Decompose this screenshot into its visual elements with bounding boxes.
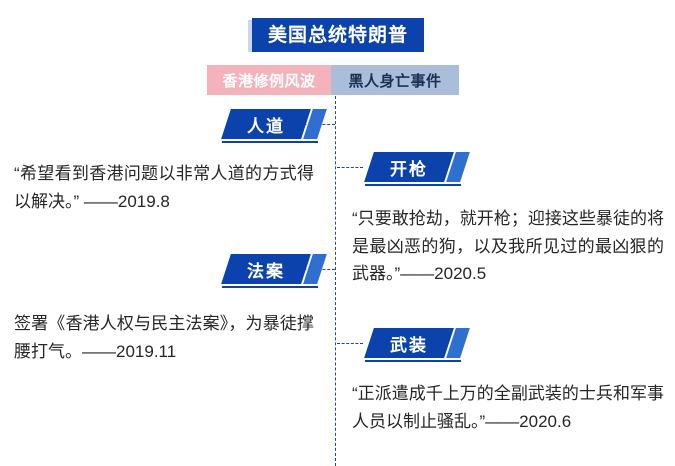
connector-kaiqiang [337,167,363,168]
topic-tabs: 香港修例风波 黑人身亡事件 [207,65,459,95]
page-title: 美国总统特朗普 [268,26,408,45]
section-label-faan: 法案 [218,254,336,286]
connector-wuzhuang [337,343,363,344]
section-label-wuzhuang: 武装 [363,328,481,360]
label-underline-faan [222,286,318,288]
label-underline-wuzhuang [365,360,461,362]
section-text-wuzhuang: “正派遣成千上万的全副武装的士兵和军事人员以制止骚乱。”——2020.6 [352,380,664,435]
section-label-kaiqiang-text: 开枪 [369,152,449,182]
infographic-root: 美国总统特朗普 香港修例风波 黑人身亡事件 人道 “希望看到香港问题以非常人道的… [0,0,675,466]
section-label-kaiqiang: 开枪 [363,152,481,184]
tab-hong-kong[interactable]: 香港修例风波 [207,65,331,95]
title-box: 美国总统特朗普 [252,18,424,52]
section-text-rendao: “希望看到香港问题以非常人道的方式得以解决。” ——2019.8 [14,160,314,215]
section-label-rendao: 人道 [218,109,336,141]
tab-hong-kong-label: 香港修例风波 [222,70,315,91]
label-underline-kaiqiang [365,184,461,186]
tab-black-death-incident[interactable]: 黑人身亡事件 [331,65,459,95]
section-text-kaiqiang: “只要敢抢劫，就开枪；迎接这些暴徒的将是最凶恶的狗，以及我所见过的最凶狠的武器。… [352,205,664,288]
label-underline-rendao [222,141,318,143]
section-label-wuzhuang-text: 武装 [369,328,449,358]
section-label-rendao-text: 人道 [226,109,306,139]
tab-black-death-incident-label: 黑人身亡事件 [348,70,441,91]
page-title-banner: 美国总统特朗普 [248,18,424,52]
section-text-faan: 签署《香港人权与民主法案》，为暴徒撑腰打气。——2019.11 [14,310,314,365]
section-label-faan-text: 法案 [226,254,306,284]
